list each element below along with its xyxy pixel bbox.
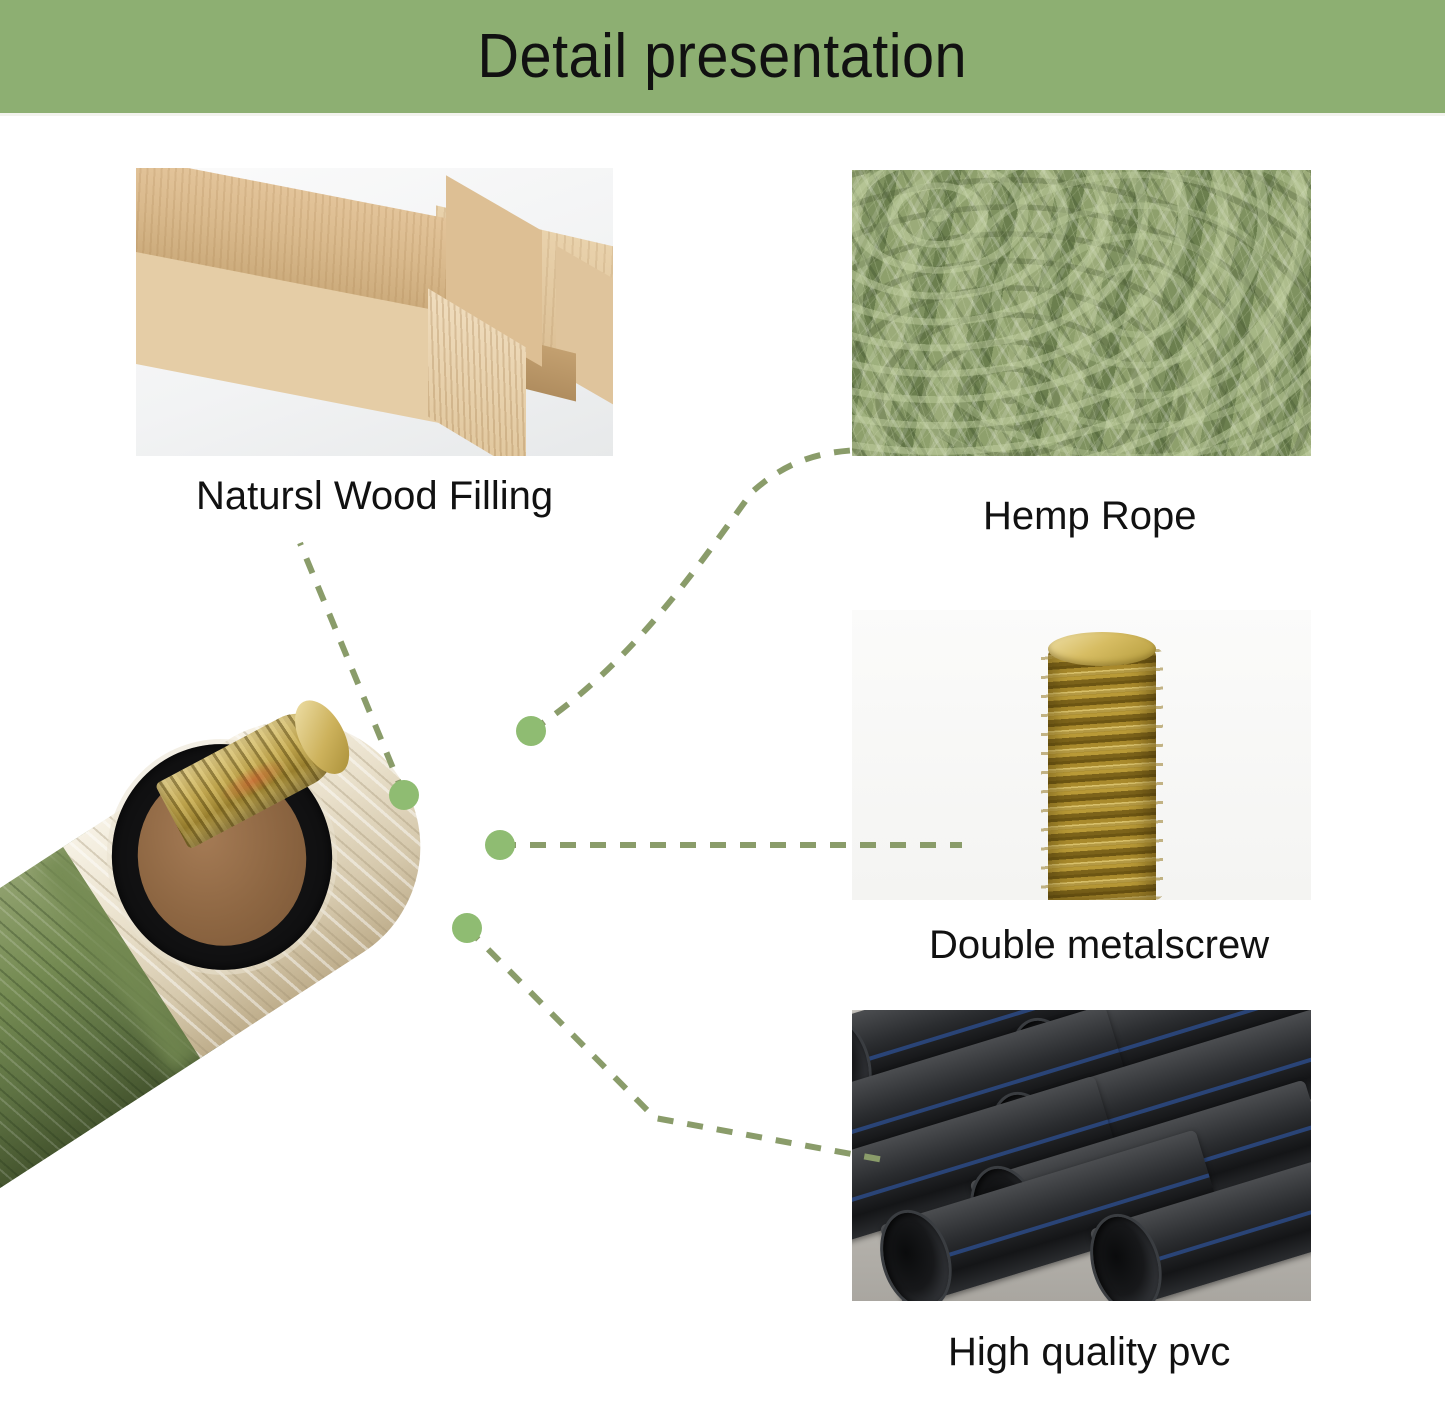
caption-wood-filling: Natursl Wood Filling (196, 476, 553, 516)
pvc-pipe-stack (852, 1010, 1311, 1301)
callout-dot-wood-filling[interactable] (389, 780, 419, 810)
brass-threaded-screw-photo (852, 610, 1311, 900)
header-banner: Detail presentation (0, 0, 1445, 113)
caption-double-metalscrew: Double metalscrew (929, 925, 1269, 965)
hemp-rope-fibers (852, 170, 1311, 456)
page-title: Detail presentation (478, 26, 968, 88)
callout-dot-pvc[interactable] (452, 913, 482, 943)
product-cutaway-photo (0, 660, 660, 1408)
stacked-lumber-photo (136, 168, 613, 456)
callout-dot-hemp-rope[interactable] (516, 716, 546, 746)
detail-presentation-infographic: Detail presentation (0, 0, 1445, 1408)
banner-divider (0, 113, 1445, 116)
screw-top-face (1048, 632, 1156, 666)
screw-threaded-shaft (1048, 648, 1156, 900)
hemp-rope-photo (852, 170, 1311, 456)
black-pvc-pipes-photo (852, 1010, 1311, 1301)
caption-high-quality-pvc: High quality pvc (948, 1332, 1230, 1372)
screw-highlight (215, 752, 293, 810)
caption-hemp-rope: Hemp Rope (983, 496, 1196, 536)
callout-dot-metalscrew[interactable] (485, 830, 515, 860)
